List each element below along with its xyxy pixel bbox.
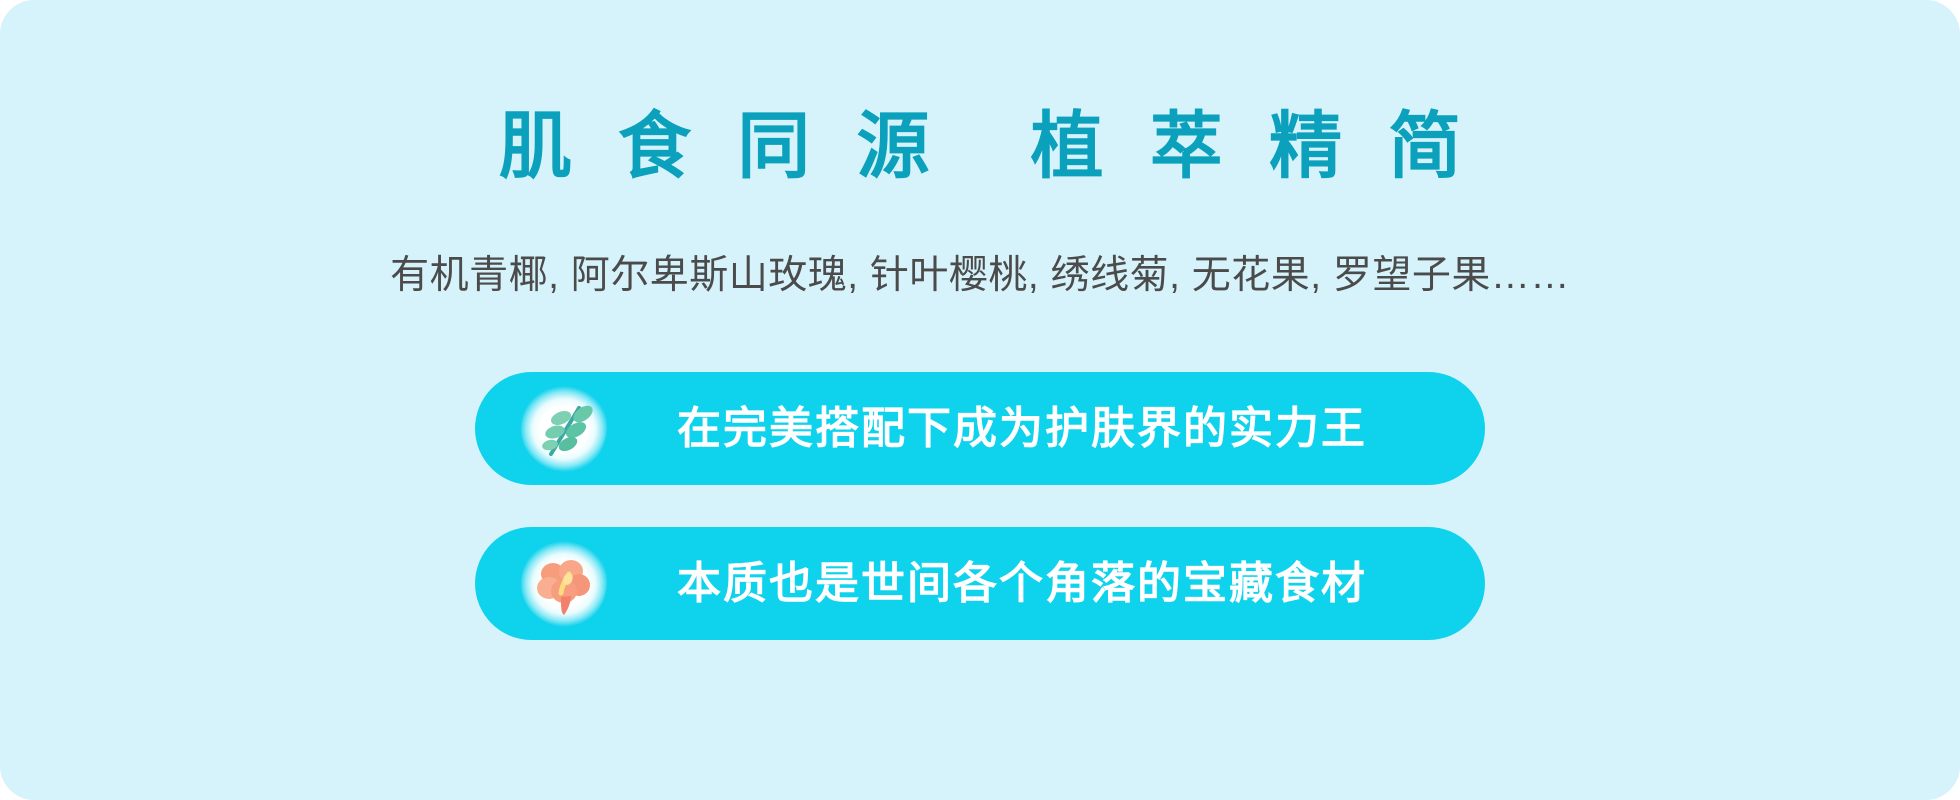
feature-pill-treasure-ingredients[interactable]: 本质也是世间各个角落的宝藏食材: [475, 527, 1485, 640]
promo-panel: 肌 食 同 源 植 萃 精 简 有机青椰, 阿尔卑斯山玫瑰, 针叶樱桃, 绣线菊…: [0, 0, 1960, 800]
flower-blossom-icon: [521, 541, 607, 627]
flower-blossom-glyph: [521, 541, 607, 627]
feature-pill-list: 在完美搭配下成为护肤界的实力王: [475, 372, 1485, 640]
page-title: 肌 食 同 源 植 萃 精 简: [0, 104, 1960, 190]
leaf-sprig-icon: [521, 386, 607, 472]
ingredient-list-subtitle: 有机青椰, 阿尔卑斯山玫瑰, 针叶樱桃, 绣线菊, 无花果, 罗望子果……: [0, 248, 1960, 304]
feature-pill-skincare-champion[interactable]: 在完美搭配下成为护肤界的实力王: [475, 372, 1485, 485]
leaf-sprig-glyph: [521, 386, 607, 472]
feature-pill-label: 本质也是世间各个角落的宝藏食材: [629, 559, 1485, 609]
feature-pill-label: 在完美搭配下成为护肤界的实力王: [629, 404, 1485, 454]
